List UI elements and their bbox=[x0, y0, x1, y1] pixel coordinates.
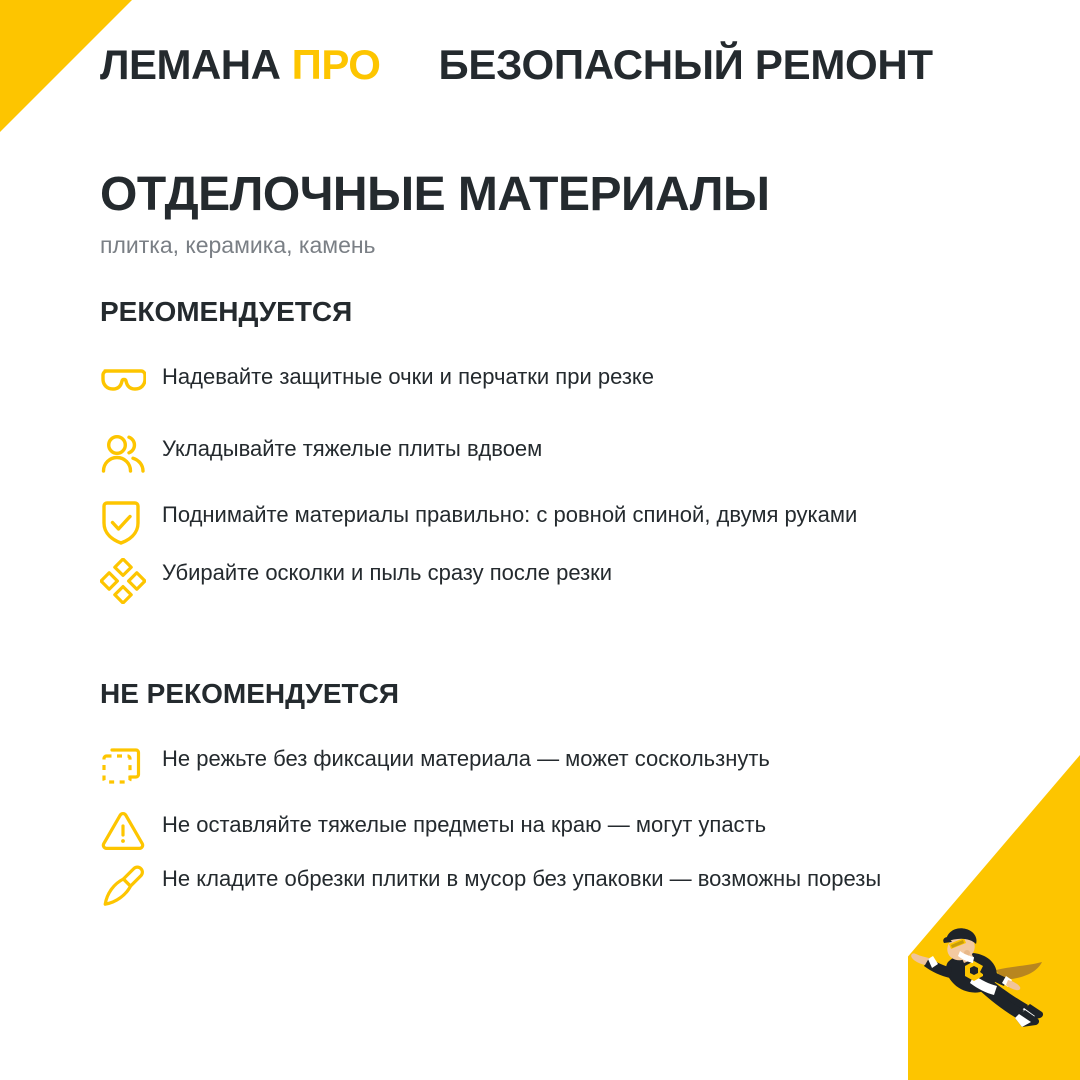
warning-triangle-icon bbox=[100, 808, 162, 854]
list-item: Не режьте без фиксации материала — может… bbox=[100, 742, 990, 788]
list-item-text: Не режьте без фиксации материала — может… bbox=[162, 742, 922, 774]
list-item: Поднимайте материалы правильно: с ровной… bbox=[100, 498, 990, 544]
page-heading: ОТДЕЛОЧНЫЕ МАТЕРИАЛЫ плитка, керамика, к… bbox=[100, 170, 990, 260]
list-item: Надевайте защитные очки и перчатки при р… bbox=[100, 360, 990, 406]
campaign-title: БЕЗОПАСНЫЙ РЕМОНТ bbox=[438, 44, 932, 86]
section-not-recommended: НЕ РЕКОМЕНДУЕТСЯ Не режьте без фиксации … bbox=[100, 680, 990, 908]
two-people-icon bbox=[100, 432, 162, 478]
header: ЛЕМАНА ПРО БЕЗОПАСНЫЙ РЕМОНТ bbox=[100, 44, 933, 86]
knife-icon bbox=[100, 862, 162, 908]
four-diamonds-icon bbox=[100, 556, 162, 602]
list-item: Не оставляйте тяжелые предметы на краю —… bbox=[100, 808, 990, 854]
brand-name-pro: ПРО bbox=[292, 41, 381, 88]
list-item-text: Убирайте осколки и пыль сразу после резк… bbox=[162, 556, 922, 588]
list-item-text: Укладывайте тяжелые плиты вдвоем bbox=[162, 432, 922, 464]
page-subtitle: плитка, керамика, камень bbox=[100, 232, 990, 260]
page-title: ОТДЕЛОЧНЫЕ МАТЕРИАЛЫ bbox=[100, 170, 990, 220]
section-title-recommended: РЕКОМЕНДУЕТСЯ bbox=[100, 298, 990, 326]
not-recommended-list: Не режьте без фиксации материала — может… bbox=[100, 742, 990, 908]
shield-check-icon bbox=[100, 498, 162, 544]
section-title-not-recommended: НЕ РЕКОМЕНДУЕТСЯ bbox=[100, 680, 990, 708]
safety-goggles-icon bbox=[100, 360, 162, 406]
list-item-text: Поднимайте материалы правильно: с ровной… bbox=[162, 498, 922, 530]
list-item-text: Надевайте защитные очки и перчатки при р… bbox=[162, 360, 922, 392]
brand-name-main: ЛЕМАНА bbox=[100, 41, 280, 88]
flying-superhero-worker-illustration bbox=[908, 926, 1058, 1044]
list-item: Не кладите обрезки плитки в мусор без уп… bbox=[100, 862, 990, 908]
list-item: Убирайте осколки и пыль сразу после резк… bbox=[100, 556, 990, 602]
poster-canvas: ЛЕМАНА ПРО БЕЗОПАСНЫЙ РЕМОНТ ОТДЕЛОЧНЫЕ … bbox=[0, 0, 1080, 1080]
list-item-text: Не кладите обрезки плитки в мусор без уп… bbox=[162, 862, 922, 894]
unfixed-square-icon bbox=[100, 742, 162, 788]
section-recommended: РЕКОМЕНДУЕТСЯ Надевайте защитные очки и … bbox=[100, 298, 990, 602]
brand-logo: ЛЕМАНА ПРО bbox=[100, 44, 380, 86]
list-item: Укладывайте тяжелые плиты вдвоем bbox=[100, 432, 990, 478]
list-item-text: Не оставляйте тяжелые предметы на краю —… bbox=[162, 808, 922, 840]
recommended-list: Надевайте защитные очки и перчатки при р… bbox=[100, 360, 990, 602]
